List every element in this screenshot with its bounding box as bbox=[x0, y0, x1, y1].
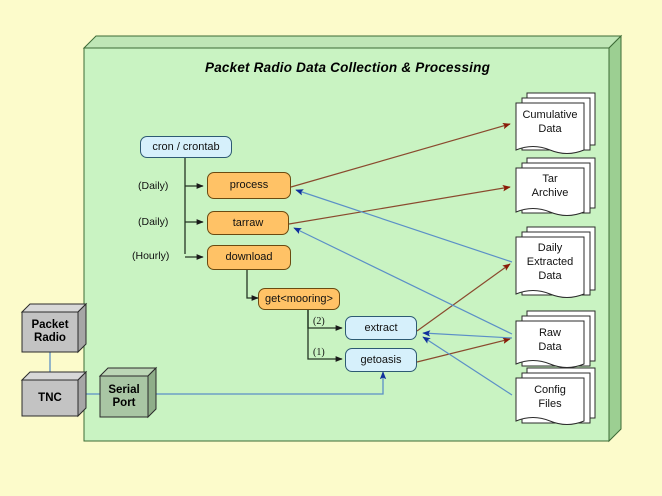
packet-radio-label: Packet Radio bbox=[22, 319, 78, 345]
process-label: process bbox=[230, 179, 269, 191]
tarraw-label: tarraw bbox=[233, 217, 264, 229]
cron-label: cron / crontab bbox=[152, 141, 219, 153]
schedule-label-daily-process: (Daily) bbox=[138, 180, 168, 192]
cumulative-data-line-1: Cumulative bbox=[522, 109, 577, 123]
process-box-tarraw[interactable]: tarraw bbox=[207, 211, 289, 235]
scheduler-box-cron[interactable]: cron / crontab bbox=[140, 136, 232, 158]
extract-label: extract bbox=[364, 322, 397, 334]
diagram-canvas: Packet Radio Data Collection & Processin… bbox=[0, 0, 662, 496]
config-files-line-2: Files bbox=[534, 398, 566, 412]
hardware-box-tnc: TNC bbox=[22, 380, 78, 416]
daily-extracted-line-3: Data bbox=[527, 270, 573, 284]
serial-port-label: Serial Port bbox=[100, 384, 148, 410]
process-box-process[interactable]: process bbox=[207, 172, 291, 199]
step-label-2: (2) bbox=[313, 316, 325, 327]
document-label-config-files: Config Files bbox=[516, 377, 584, 419]
cumulative-data-line-2: Data bbox=[522, 123, 577, 137]
config-files-line-1: Config bbox=[534, 384, 566, 398]
process-box-extract[interactable]: extract bbox=[345, 316, 417, 340]
document-label-raw-data: Raw Data bbox=[516, 320, 584, 362]
document-label-daily-extracted-data: Daily Extracted Data bbox=[514, 236, 586, 290]
download-label: download bbox=[225, 251, 272, 263]
raw-data-line-1: Raw bbox=[538, 327, 561, 341]
hardware-box-serial-port: Serial Port bbox=[100, 376, 148, 417]
process-box-getoasis[interactable]: getoasis bbox=[345, 348, 417, 372]
schedule-label-hourly-download: (Hourly) bbox=[132, 250, 169, 262]
page-title: Packet Radio Data Collection & Processin… bbox=[85, 60, 610, 75]
daily-extracted-line-1: Daily bbox=[527, 242, 573, 256]
schedule-label-daily-tarraw: (Daily) bbox=[138, 216, 168, 228]
process-box-download[interactable]: download bbox=[207, 245, 291, 270]
step-label-1: (1) bbox=[313, 347, 325, 358]
tnc-label: TNC bbox=[38, 392, 62, 405]
daily-extracted-line-2: Extracted bbox=[527, 256, 573, 270]
raw-data-line-2: Data bbox=[538, 341, 561, 355]
document-label-tar-archive: Tar Archive bbox=[516, 165, 584, 209]
tar-archive-line-2: Archive bbox=[532, 187, 569, 201]
get-mooring-label: get<mooring> bbox=[265, 293, 333, 305]
tar-archive-line-1: Tar bbox=[532, 173, 569, 187]
process-box-get-mooring[interactable]: get<mooring> bbox=[258, 288, 340, 310]
hardware-box-packet-radio: Packet Radio bbox=[22, 312, 78, 352]
document-label-cumulative-data: Cumulative Data bbox=[516, 100, 584, 146]
getoasis-label: getoasis bbox=[361, 354, 402, 366]
